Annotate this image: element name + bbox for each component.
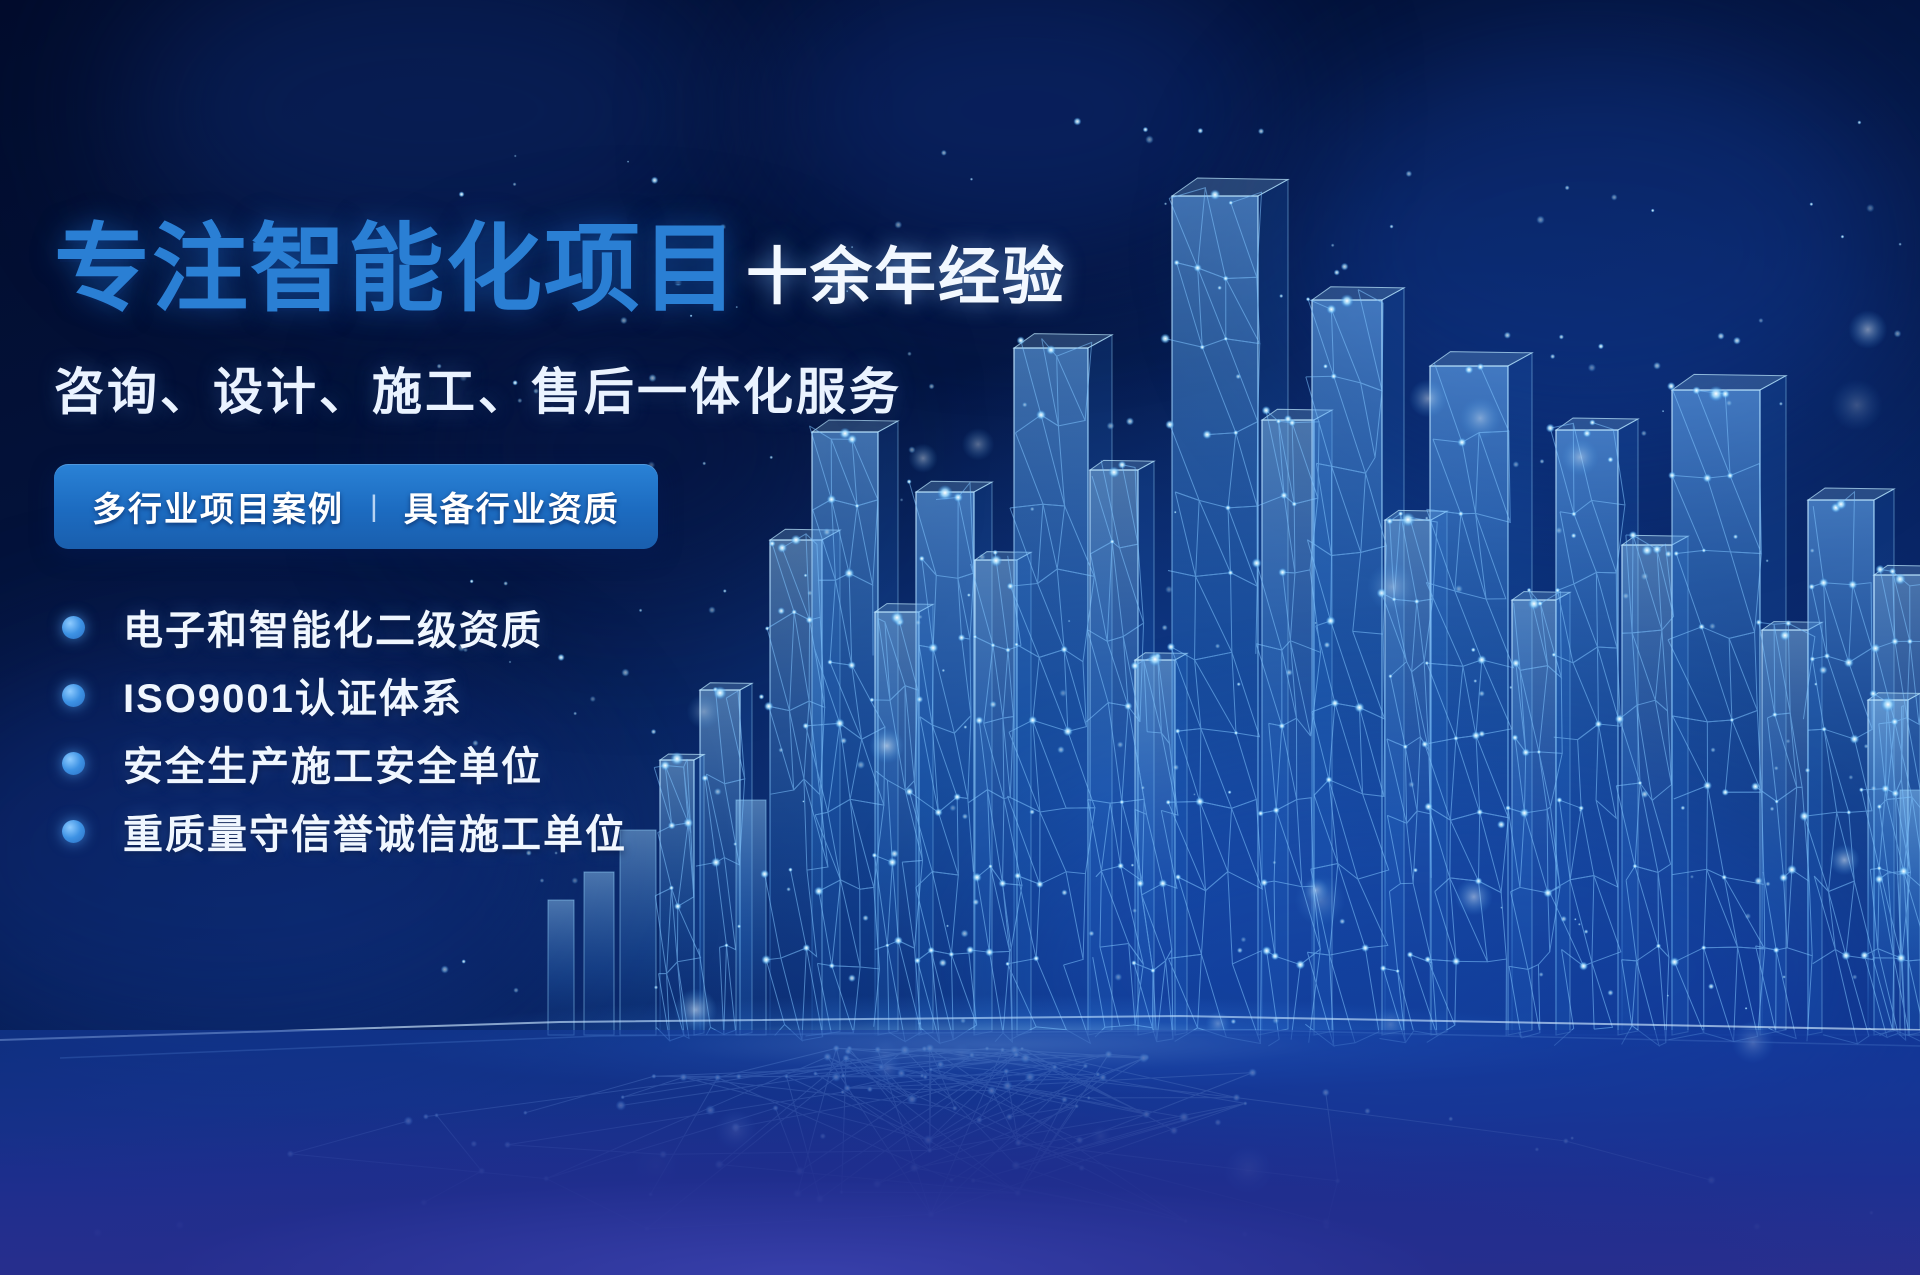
page-title: 专注智能化项目 十余年经验 xyxy=(54,222,1114,318)
list-item: 重质量守信誉诚信施工单位 xyxy=(54,797,1114,865)
hero-banner: 专注智能化项目 十余年经验 咨询、设计、施工、售后一体化服务 多行业项目案例 |… xyxy=(0,0,1920,1275)
hero-subtitle: 咨询、设计、施工、售后一体化服务 xyxy=(54,352,1114,424)
bullet-dot-icon xyxy=(62,616,85,639)
list-item: 安全生产施工安全单位 xyxy=(54,729,1114,797)
list-item-label: 安全生产施工安全单位 xyxy=(123,734,543,792)
list-item: 电子和智能化二级资质 xyxy=(54,593,1114,661)
credentials-badge[interactable]: 多行业项目案例 | 具备行业资质 xyxy=(54,464,658,549)
bullet-dot-icon xyxy=(62,684,85,707)
headline-sub-text: 十余年经验 xyxy=(746,247,1066,309)
list-item-label: 电子和智能化二级资质 xyxy=(123,598,543,656)
bullet-dot-icon xyxy=(62,752,85,775)
list-item-label: ISO9001认证体系 xyxy=(123,666,463,724)
qualification-list: 电子和智能化二级资质 ISO9001认证体系 安全生产施工安全单位 重质量守信誉… xyxy=(54,593,1114,865)
badge-left-label: 多行业项目案例 xyxy=(92,482,344,531)
badge-separator: | xyxy=(370,490,378,524)
list-item: ISO9001认证体系 xyxy=(54,661,1114,729)
headline-main-text: 专注智能化项目 xyxy=(54,222,740,318)
list-item-label: 重质量守信誉诚信施工单位 xyxy=(123,802,627,860)
bullet-dot-icon xyxy=(62,820,85,843)
hero-copy: 专注智能化项目 十余年经验 咨询、设计、施工、售后一体化服务 多行业项目案例 |… xyxy=(54,222,1114,881)
badge-right-label: 具备行业资质 xyxy=(404,482,620,531)
